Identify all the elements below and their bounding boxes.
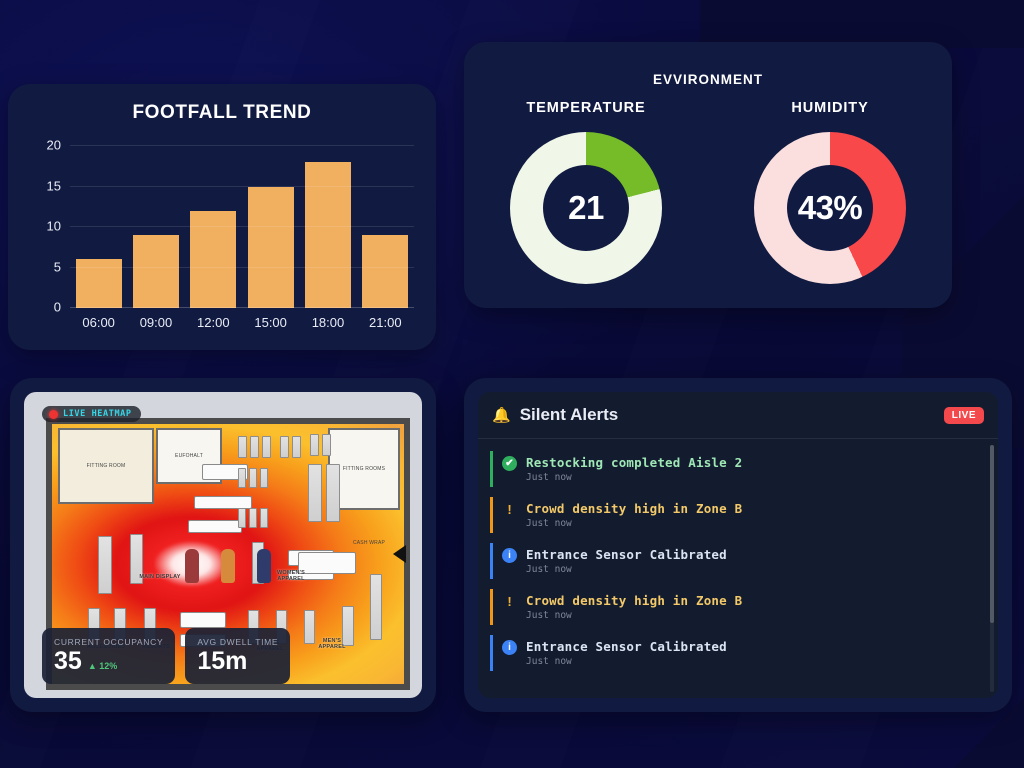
clothing-rack [260, 508, 268, 528]
donut-chart: 43% [754, 132, 906, 284]
silent-alerts-card: 🔔 Silent Alerts LIVE ✔Restocking complet… [464, 378, 1012, 712]
alert-item[interactable]: ✔Restocking completed Aisle 2Just now [490, 451, 992, 487]
stat-label: AVG DWELL TIME [197, 637, 278, 647]
chart-bar-slot[interactable]: 06:00 [70, 146, 127, 308]
alert-item[interactable]: iEntrance Sensor CalibratedJust now [490, 635, 992, 671]
alerts-list[interactable]: ✔Restocking completed Aisle 2Just now!Cr… [478, 439, 998, 698]
alert-message: Entrance Sensor Calibrated [526, 547, 727, 562]
stat-card: CURRENT OCCUPANCY35▲ 12% [42, 628, 175, 684]
x-axis-tick: 09:00 [140, 315, 173, 330]
x-axis-tick: 12:00 [197, 315, 230, 330]
fixture [180, 612, 226, 628]
alert-item[interactable]: !Crowd density high in Zone BJust now [490, 497, 992, 533]
zone-label-mens-apparel: MEN'S APPAREL [310, 638, 354, 651]
chart-bar-slot[interactable]: 09:00 [127, 146, 184, 308]
x-axis-tick: 06:00 [82, 315, 115, 330]
stat-value-row: 15m [197, 649, 278, 674]
chart-bars: 06:0009:0012:0015:0018:0021:00 [70, 146, 414, 308]
clothing-rack [249, 468, 257, 488]
clothing-rack [260, 468, 268, 488]
stat-label: CURRENT OCCUPANCY [54, 637, 163, 647]
alerts-header: 🔔 Silent Alerts LIVE [478, 392, 998, 439]
chart-gridline: 5 [70, 267, 414, 268]
alert-item[interactable]: !Crowd density high in Zone BJust now [490, 589, 992, 625]
shelf-unit [370, 574, 382, 640]
y-axis-tick: 20 [47, 138, 61, 153]
y-axis-tick: 0 [54, 300, 61, 315]
environment-card: EVVIRONMENT TEMPERATURE21HUMIDITY43% [464, 42, 952, 308]
y-axis-tick: 15 [47, 178, 61, 193]
environment-gauges: TEMPERATURE21HUMIDITY43% [464, 100, 952, 308]
live-heatmap-card: LIVE HEATMAP FITTING ROOM EUFOHALT FITTI… [10, 378, 436, 712]
alert-message: Crowd density high in Zone B [526, 593, 742, 608]
chart-bar[interactable] [362, 235, 408, 308]
alert-timestamp: Just now [526, 610, 742, 621]
bg-block-top-right [904, 0, 1024, 48]
footfall-trend-card: FOOTFALL TREND 06:0009:0012:0015:0018:00… [8, 84, 436, 350]
page-title: FOOTFALL TREND [8, 84, 436, 124]
room-label: CASH WRAP [353, 540, 385, 546]
alert-timestamp: Just now [526, 518, 742, 529]
chart-gridline: 0 [70, 307, 414, 308]
mannequin [221, 549, 235, 583]
footfall-chart: 06:0009:0012:0015:0018:0021:00 05101520 [8, 132, 436, 350]
live-heatmap-label: LIVE HEATMAP [63, 409, 132, 419]
chart-bar[interactable] [133, 235, 179, 308]
chart-bar[interactable] [305, 162, 351, 308]
chart-bar[interactable] [248, 187, 294, 309]
alerts-scrollbar[interactable] [990, 445, 994, 692]
info-circle-icon: i [502, 548, 517, 563]
environment-title: EVVIRONMENT [464, 42, 952, 87]
clothing-rack [249, 508, 257, 528]
alert-message: Restocking completed Aisle 2 [526, 455, 742, 470]
fixture [188, 520, 242, 533]
exclamation-icon: ! [502, 594, 517, 609]
room-label: EUFOHALT [175, 453, 203, 459]
room-label: FITTING ROOM [87, 463, 126, 469]
shelf-unit [98, 536, 112, 594]
clothing-rack [238, 508, 246, 528]
bell-icon: 🔔 [492, 406, 511, 424]
room-label: FITTING ROOMS [343, 466, 385, 472]
donut-center: 43% [787, 165, 873, 251]
heatmap-viewport[interactable]: LIVE HEATMAP FITTING ROOM EUFOHALT FITTI… [24, 392, 422, 698]
record-dot-icon [49, 410, 58, 419]
gauge-value: 43% [798, 189, 863, 227]
clothing-rack [250, 436, 259, 458]
clothing-rack [238, 468, 246, 488]
status-badge[interactable]: LIVE [944, 407, 984, 424]
y-axis-tick: 10 [47, 219, 61, 234]
exclamation-icon: ! [502, 502, 517, 517]
mannequin [257, 549, 271, 583]
shelf-unit [308, 464, 322, 522]
chart-bar-slot[interactable]: 15:00 [242, 146, 299, 308]
zone-label-womens-apparel: WOMEN'S APPAREL [270, 570, 312, 583]
stat-value: 35 [54, 649, 82, 674]
gauge-label: TEMPERATURE [526, 100, 645, 116]
room-fitting-room: FITTING ROOM [58, 428, 154, 504]
donut-chart: 21 [510, 132, 662, 284]
clothing-rack [280, 436, 289, 458]
chart-bar-slot[interactable]: 12:00 [185, 146, 242, 308]
chart-gridline: 20 [70, 145, 414, 146]
alert-timestamp: Just now [526, 564, 727, 575]
info-circle-icon: i [502, 640, 517, 655]
main-display-mannequins [174, 535, 282, 583]
alerts-title: Silent Alerts [520, 405, 944, 425]
chart-gridline: 10 [70, 226, 414, 227]
gauge-humidity: HUMIDITY43% [708, 100, 952, 308]
zone-label-main-display: MAIN DISPLAY [130, 574, 190, 580]
shelf-unit [326, 464, 340, 522]
clothing-rack [262, 436, 271, 458]
stat-delta: ▲ 12% [88, 661, 117, 671]
heatmap-stats: CURRENT OCCUPANCY35▲ 12%AVG DWELL TIME15… [42, 628, 290, 684]
alert-item[interactable]: iEntrance Sensor CalibratedJust now [490, 543, 992, 579]
chart-bar-slot[interactable]: 21:00 [357, 146, 414, 308]
alert-text-group: Crowd density high in Zone BJust now [526, 501, 742, 529]
chart-bar-slot[interactable]: 18:00 [299, 146, 356, 308]
gauge-temperature: TEMPERATURE21 [464, 100, 708, 308]
alert-text-group: Restocking completed Aisle 2Just now [526, 455, 742, 483]
scrollbar-thumb[interactable] [990, 445, 994, 623]
gauge-label: HUMIDITY [791, 100, 868, 116]
clothing-rack [310, 434, 319, 456]
check-circle-icon: ✔ [502, 456, 517, 471]
alerts-panel: 🔔 Silent Alerts LIVE ✔Restocking complet… [478, 392, 998, 698]
left-triangle-icon [393, 545, 406, 563]
x-axis-tick: 15:00 [254, 315, 287, 330]
alert-text-group: Entrance Sensor CalibratedJust now [526, 547, 727, 575]
alert-timestamp: Just now [526, 656, 727, 667]
chart-gridline: 15 [70, 186, 414, 187]
alert-timestamp: Just now [526, 472, 742, 483]
y-axis-tick: 5 [54, 259, 61, 274]
stat-value-row: 35▲ 12% [54, 649, 163, 674]
alert-message: Crowd density high in Zone B [526, 501, 742, 516]
alert-text-group: Crowd density high in Zone BJust now [526, 593, 742, 621]
x-axis-tick: 21:00 [369, 315, 402, 330]
clothing-rack [292, 436, 301, 458]
gauge-value: 21 [568, 189, 604, 227]
stat-value: 15m [197, 649, 247, 674]
x-axis-tick: 18:00 [312, 315, 345, 330]
chart-plot-area: 06:0009:0012:0015:0018:0021:00 05101520 [70, 146, 414, 308]
live-heatmap-badge: LIVE HEATMAP [42, 406, 141, 422]
clothing-rack [238, 436, 247, 458]
donut-center: 21 [543, 165, 629, 251]
stat-card: AVG DWELL TIME15m [185, 628, 290, 684]
clothing-rack [322, 434, 331, 456]
alert-text-group: Entrance Sensor CalibratedJust now [526, 639, 727, 667]
alert-message: Entrance Sensor Calibrated [526, 639, 727, 654]
